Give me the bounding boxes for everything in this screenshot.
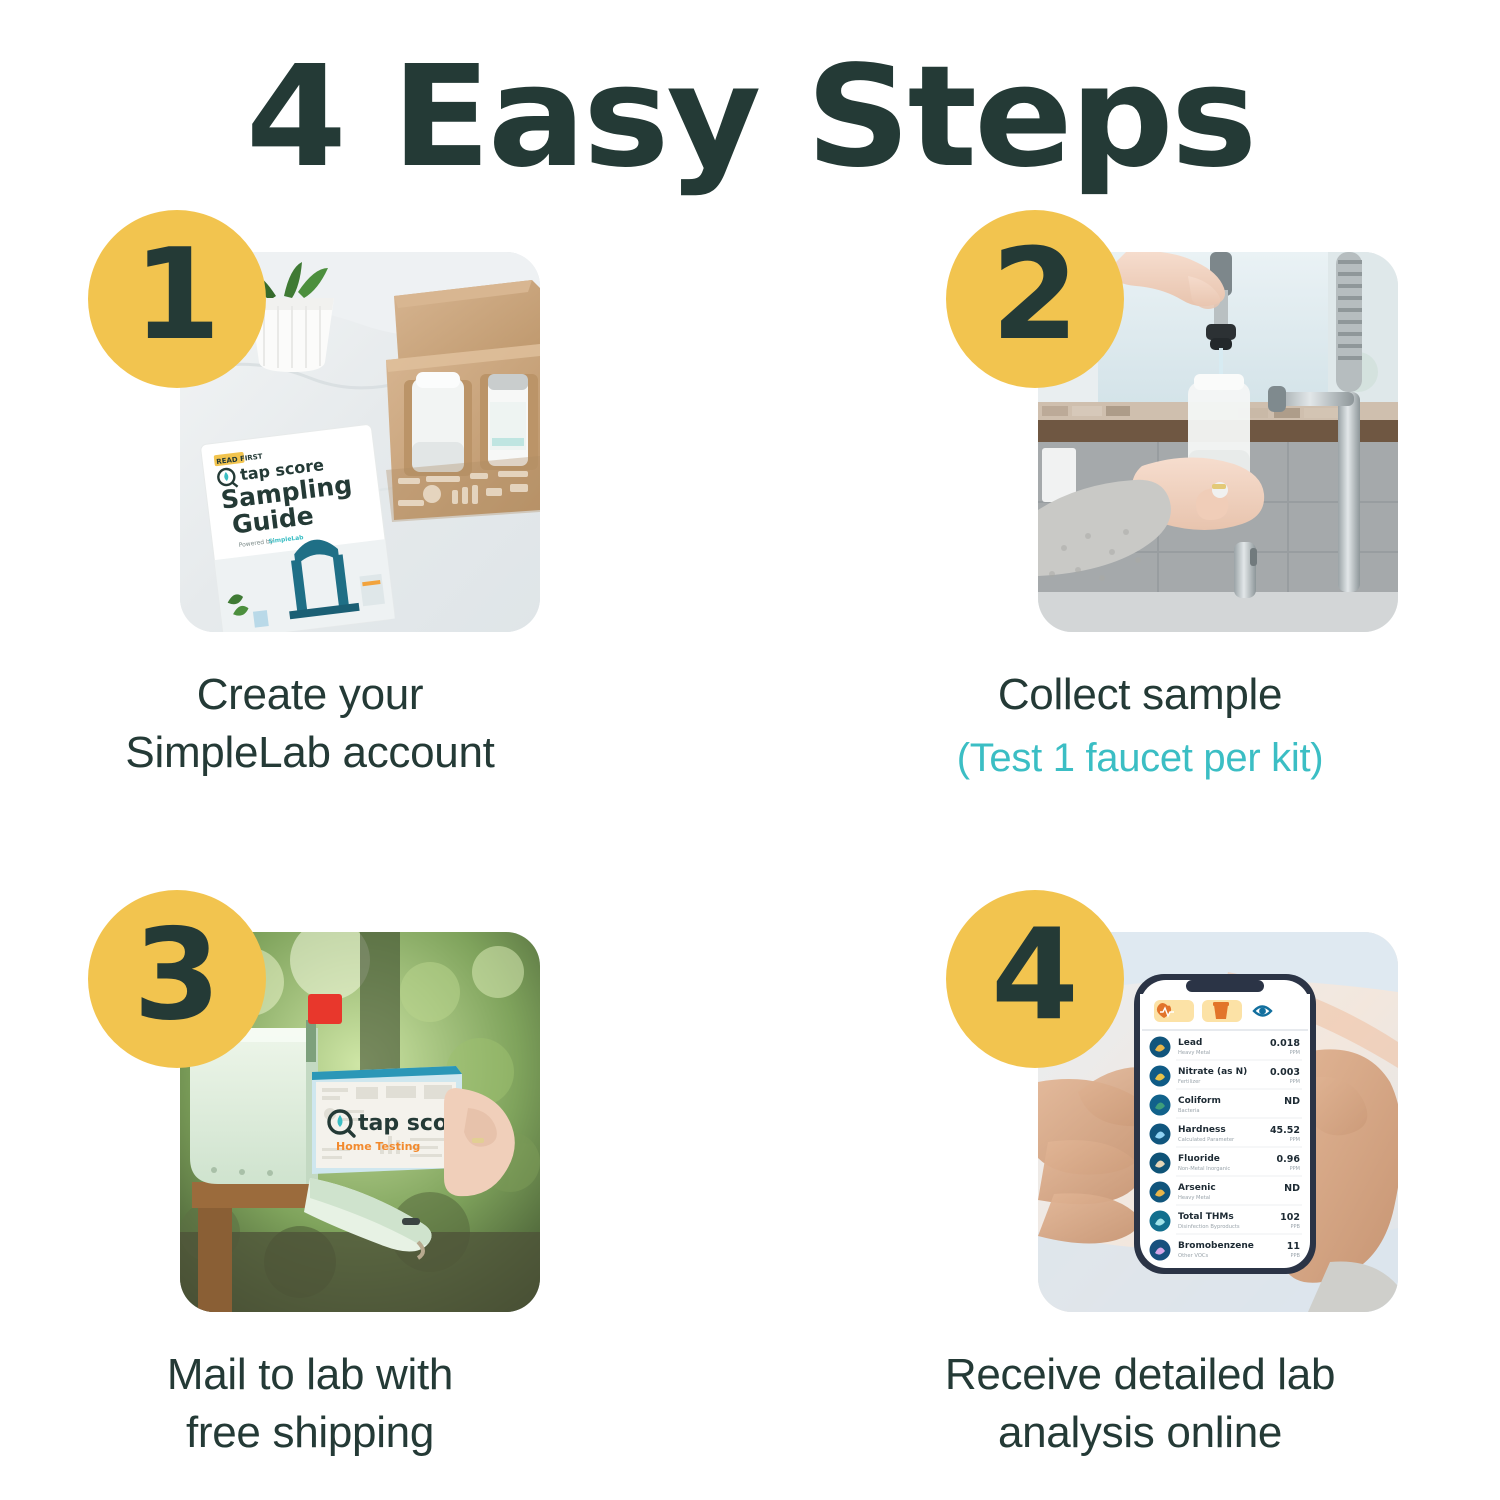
- result-value: 0.018: [1270, 1038, 1300, 1049]
- step-number-badge-2: 2: [946, 210, 1124, 388]
- step-card-4: LeadHeavy Metal0.018PPMNitrate (as N)Fer…: [750, 912, 1500, 1462]
- result-value: 45.52: [1270, 1125, 1300, 1136]
- result-name: Coliform: [1178, 1096, 1221, 1106]
- step-1-caption-line2: SimpleLab account: [0, 724, 640, 782]
- step-number-badge-3: 3: [88, 890, 266, 1068]
- svg-text:Home Testing: Home Testing: [336, 1140, 420, 1153]
- step-2-sub-caption: (Test 1 faucet per kit): [790, 732, 1490, 785]
- result-unit: PPB: [1291, 1253, 1301, 1259]
- step-2-caption: Collect sample (Test 1 faucet per kit): [790, 666, 1490, 785]
- step-2-caption-line1: Collect sample: [790, 666, 1490, 724]
- result-name: Total THMs: [1178, 1212, 1234, 1222]
- step-card-2: 2 Collect sample (Test 1 faucet per kit): [750, 232, 1500, 785]
- result-value: 102: [1280, 1212, 1300, 1223]
- step-1-caption-line1: Create your: [0, 666, 640, 724]
- step-number-3: 3: [133, 912, 221, 1038]
- result-value: ND: [1284, 1183, 1300, 1194]
- result-category: Other VOCs: [1178, 1253, 1209, 1259]
- step-number-badge-1: 1: [88, 210, 266, 388]
- step-number-2: 2: [991, 232, 1079, 358]
- step-4-caption-line1: Receive detailed lab: [790, 1346, 1490, 1404]
- page-title: 4 Easy Steps: [0, 44, 1500, 191]
- result-category: Disinfection Byproducts: [1178, 1224, 1240, 1230]
- result-category: Bacteria: [1178, 1108, 1200, 1114]
- step-3-caption-line2: free shipping: [0, 1404, 640, 1462]
- step-number-4: 4: [991, 912, 1079, 1038]
- step-4-caption-line2: analysis online: [790, 1404, 1490, 1462]
- result-value: 11: [1287, 1241, 1300, 1252]
- result-value: ND: [1284, 1096, 1300, 1107]
- result-unit: PPM: [1290, 1079, 1300, 1085]
- step-1-media: READ FIRST tap score Sampling Guide Powe…: [140, 232, 540, 632]
- result-unit: PPM: [1290, 1137, 1300, 1143]
- step-number-1: 1: [133, 232, 221, 358]
- step-3-caption-line1: Mail to lab with: [0, 1346, 640, 1404]
- step-1-caption: Create your SimpleLab account: [0, 666, 640, 782]
- result-name: Fluoride: [1178, 1154, 1220, 1164]
- result-name: Bromobenzene: [1178, 1241, 1254, 1251]
- step-4-media: LeadHeavy Metal0.018PPMNitrate (as N)Fer…: [998, 912, 1398, 1312]
- result-value: 0.003: [1270, 1067, 1300, 1078]
- result-category: Fertilizer: [1178, 1079, 1201, 1085]
- result-name: Nitrate (as N): [1178, 1067, 1247, 1077]
- step-number-badge-4: 4: [946, 890, 1124, 1068]
- infographic-page: 4 Easy Steps: [0, 0, 1500, 1500]
- step-4-caption: Receive detailed lab analysis online: [790, 1346, 1490, 1462]
- step-2-media: 2: [998, 232, 1398, 632]
- step-card-3: tap score Home Testing 3: [0, 912, 750, 1462]
- result-name: Hardness: [1178, 1125, 1226, 1135]
- result-name: Arsenic: [1178, 1183, 1216, 1193]
- result-name: Lead: [1178, 1038, 1202, 1048]
- result-category: Heavy Metal: [1178, 1050, 1210, 1056]
- result-value: 0.96: [1277, 1154, 1301, 1165]
- result-unit: PPM: [1290, 1050, 1300, 1056]
- result-category: Non-Metal Inorganic: [1178, 1166, 1230, 1172]
- steps-grid: READ FIRST tap score Sampling Guide Powe…: [0, 232, 1500, 1500]
- result-unit: PPB: [1291, 1224, 1301, 1230]
- step-3-caption: Mail to lab with free shipping: [0, 1346, 640, 1462]
- step-card-1: READ FIRST tap score Sampling Guide Powe…: [0, 232, 750, 782]
- step-3-media: tap score Home Testing 3: [140, 912, 540, 1312]
- result-category: Heavy Metal: [1178, 1195, 1210, 1201]
- result-unit: PPM: [1290, 1166, 1300, 1172]
- result-category: Calculated Parameter: [1178, 1137, 1235, 1143]
